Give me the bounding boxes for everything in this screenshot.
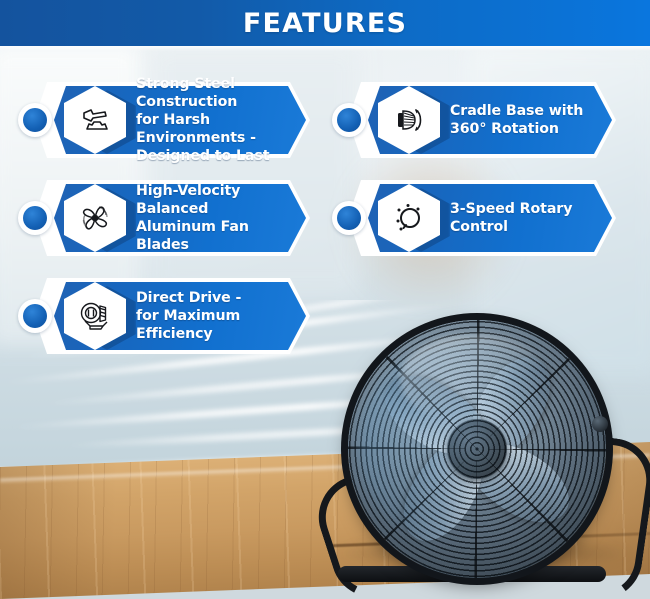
badge-bullet-dot [18,201,52,235]
feature-label: Direct Drive - for Maximum Efficiency [136,278,286,354]
badge-bullet-dot [332,103,366,137]
feature-badge-rotary-control[interactable]: 3-Speed Rotary Control [332,180,616,256]
feature-column-right: Cradle Base with 360° Rotation [332,82,616,278]
feature-column-left: Strong Steel Construction for Harsh Envi… [18,82,310,376]
infographic-stage: FEATURES Strong Steel Construction for H… [0,0,650,599]
feature-label: Cradle Base with 360° Rotation [450,82,592,158]
feature-badge-fan-blades[interactable]: High-Velocity Balanced Aluminum Fan Blad… [18,180,310,256]
feature-badge-cradle-base[interactable]: Cradle Base with 360° Rotation [332,82,616,158]
badge-bullet-dot [18,103,52,137]
feature-label: Strong Steel Construction for Harsh Envi… [136,82,286,158]
features-list: Strong Steel Construction for Harsh Envi… [0,0,650,599]
badge-bullet-dot [332,201,366,235]
badge-bullet-dot [18,299,52,333]
feature-badge-direct-drive[interactable]: Direct Drive - for Maximum Efficiency [18,278,310,354]
feature-badge-steel-construction[interactable]: Strong Steel Construction for Harsh Envi… [18,82,310,158]
feature-label: 3-Speed Rotary Control [450,180,592,256]
feature-label: High-Velocity Balanced Aluminum Fan Blad… [136,180,286,256]
